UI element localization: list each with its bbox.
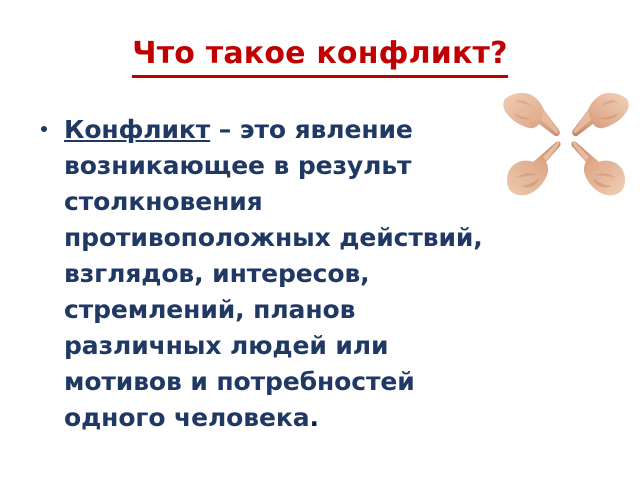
sentence-period: . [309, 403, 318, 432]
body-line-4: противоположных действий, [64, 220, 596, 256]
body-line-8: мотивов и потребностей [64, 364, 596, 400]
body-line-9: одного человека. [64, 400, 596, 436]
keyword-konflikt: Конфликт [64, 115, 210, 144]
title-container: Что такое конфликт? [0, 36, 640, 78]
body-line-5: взглядов, интересов, [64, 256, 596, 292]
page-title: Что такое конфликт? [132, 36, 508, 78]
bullet-point-icon [41, 126, 47, 132]
body-line-6: стремлений, планов [64, 292, 596, 328]
body-line-7: различных людей или [64, 328, 596, 364]
four-hands-pointing-inward-photo [503, 83, 629, 197]
body-line-9-text: одного человека [64, 403, 309, 432]
slide: Что такое конфликт? Конфликт – это явлен… [0, 0, 640, 480]
body-line-1-rest: – это явление [210, 115, 413, 144]
